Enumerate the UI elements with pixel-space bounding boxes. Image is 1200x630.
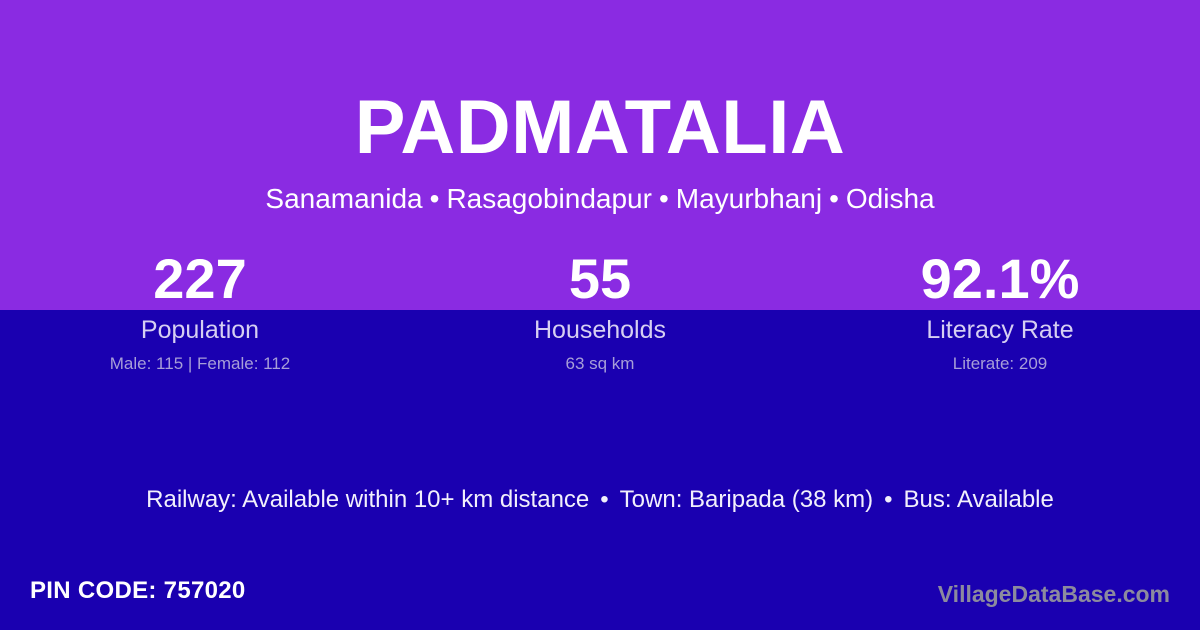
page-title: PADMATALIA — [0, 85, 1200, 171]
stat-value: 55 — [400, 248, 800, 310]
breadcrumb: Sanamanida•Rasagobindapur•Mayurbhanj•Odi… — [0, 182, 1200, 216]
stat-value: 227 — [0, 248, 400, 310]
breadcrumb-separator: • — [652, 183, 676, 214]
infrastructure-summary: Railway: Available within 10+ km distanc… — [0, 485, 1200, 515]
infrastructure-separator: • — [589, 486, 619, 513]
stat-label: Literacy Rate — [800, 316, 1200, 345]
stat-label: Population — [0, 316, 400, 345]
breadcrumb-item: Sanamanida — [265, 183, 422, 214]
stat-block-households: 55Households63 sq km — [400, 248, 800, 374]
infrastructure-item: Railway: Available within 10+ km distanc… — [146, 486, 589, 513]
infrastructure-item: Bus: Available — [904, 486, 1054, 513]
stat-detail: Literate: 209 — [800, 354, 1200, 374]
site-brand-label: VillageDataBase.com — [938, 580, 1170, 608]
breadcrumb-item: Odisha — [846, 183, 935, 214]
stat-detail: Male: 115 | Female: 112 — [0, 354, 400, 374]
village-info-card: PADMATALIA Sanamanida•Rasagobindapur•May… — [0, 0, 1200, 630]
stat-label: Households — [400, 316, 800, 345]
stat-detail: 63 sq km — [400, 354, 800, 374]
stats-row: 227PopulationMale: 115 | Female: 11255Ho… — [0, 248, 1200, 374]
infrastructure-item: Town: Baripada (38 km) — [620, 486, 873, 513]
stat-block-population: 227PopulationMale: 115 | Female: 112 — [0, 248, 400, 374]
stat-block-literacy-rate: 92.1%Literacy RateLiterate: 209 — [800, 248, 1200, 374]
breadcrumb-item: Rasagobindapur — [446, 183, 652, 214]
pin-code-label: PIN CODE: 757020 — [30, 576, 246, 606]
infrastructure-separator: • — [873, 486, 903, 513]
breadcrumb-separator: • — [822, 183, 846, 214]
stat-value: 92.1% — [800, 248, 1200, 310]
breadcrumb-item: Mayurbhanj — [676, 183, 822, 214]
breadcrumb-separator: • — [423, 183, 447, 214]
